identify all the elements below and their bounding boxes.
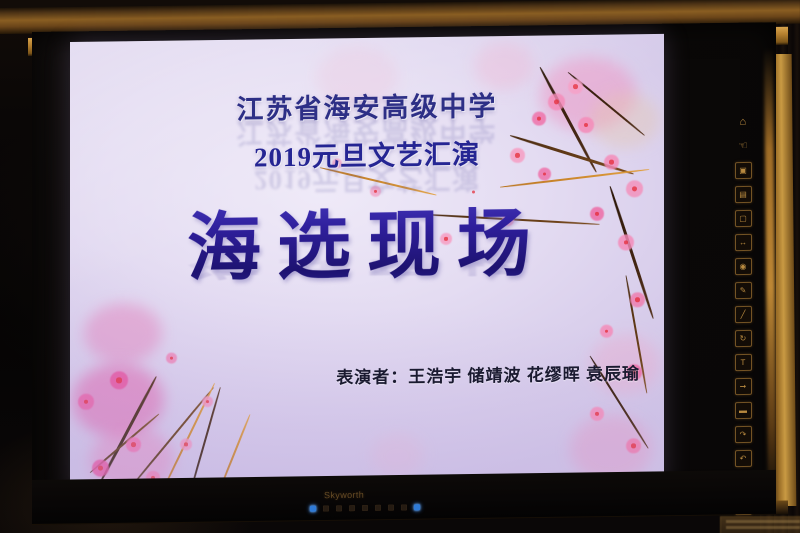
undo-icon[interactable]: ↷ [735, 426, 752, 443]
resize-icon[interactable]: ↔ [735, 234, 752, 251]
slide-text-layer: 江苏省海安高级中学 2019元旦文艺汇演 江苏省海安高级中学 2019元旦文艺汇… [70, 34, 664, 494]
rotate-icon[interactable]: ↻ [735, 330, 752, 347]
slide-headline: 海选现场 [70, 182, 664, 297]
projected-slide[interactable]: 江苏省海安高级中学 2019元旦文艺汇演 江苏省海安高级中学 2019元旦文艺汇… [70, 34, 664, 494]
pen-icon[interactable]: ✎ [735, 282, 752, 299]
window-icon[interactable]: ▢ [735, 210, 752, 227]
brand-label: Skyworth [324, 490, 364, 501]
volume-up-button[interactable] [362, 505, 368, 511]
indicator-led[interactable] [414, 504, 420, 510]
pencil-icon[interactable]: ╱ [735, 306, 752, 323]
annotate-page-icon[interactable]: ▤ [735, 186, 752, 203]
interactive-display-unit: 江苏省海安高级中学 2019元旦文艺汇演 江苏省海安高级中学 2019元旦文艺汇… [18, 18, 790, 523]
photo-scene: 江苏省海安高级中学 2019元旦文艺汇演 江苏省海安高级中学 2019元旦文艺汇… [0, 0, 800, 533]
performers-line: 表演者：王浩宇 储靖波 花缪晖 袁辰瑜 [336, 359, 640, 388]
plate-line [726, 526, 800, 529]
school-name: 江苏省海安高级中学 [70, 82, 664, 129]
hand-pointer-icon[interactable]: ☜ [735, 138, 752, 155]
arrow-right-icon[interactable]: ➞ [735, 378, 752, 395]
screen-capture-icon[interactable]: ▣ [735, 162, 752, 179]
redo-icon[interactable]: ↶ [735, 450, 752, 467]
home-icon[interactable]: ⌂ [735, 114, 752, 131]
corner-label-plate [720, 516, 800, 533]
volume-down-button[interactable] [349, 505, 355, 511]
menu-button[interactable] [336, 505, 342, 511]
enter-button[interactable] [401, 504, 407, 510]
channel-up-button[interactable] [388, 505, 394, 511]
eraser-circle-icon[interactable]: ◉ [735, 258, 752, 275]
event-name: 2019元旦文艺汇演 [70, 130, 664, 177]
source-button[interactable] [323, 505, 329, 511]
power-button[interactable] [310, 506, 316, 512]
channel-down-button[interactable] [375, 505, 381, 511]
side-tool-strip[interactable]: ⌂☜▣▤▢↔◉✎╱↻T➞▬↷↶◕⇥ [730, 114, 756, 515]
plate-line [726, 520, 800, 523]
minus-bar-icon[interactable]: ▬ [735, 402, 752, 419]
text-tool-icon[interactable]: T [735, 354, 752, 371]
